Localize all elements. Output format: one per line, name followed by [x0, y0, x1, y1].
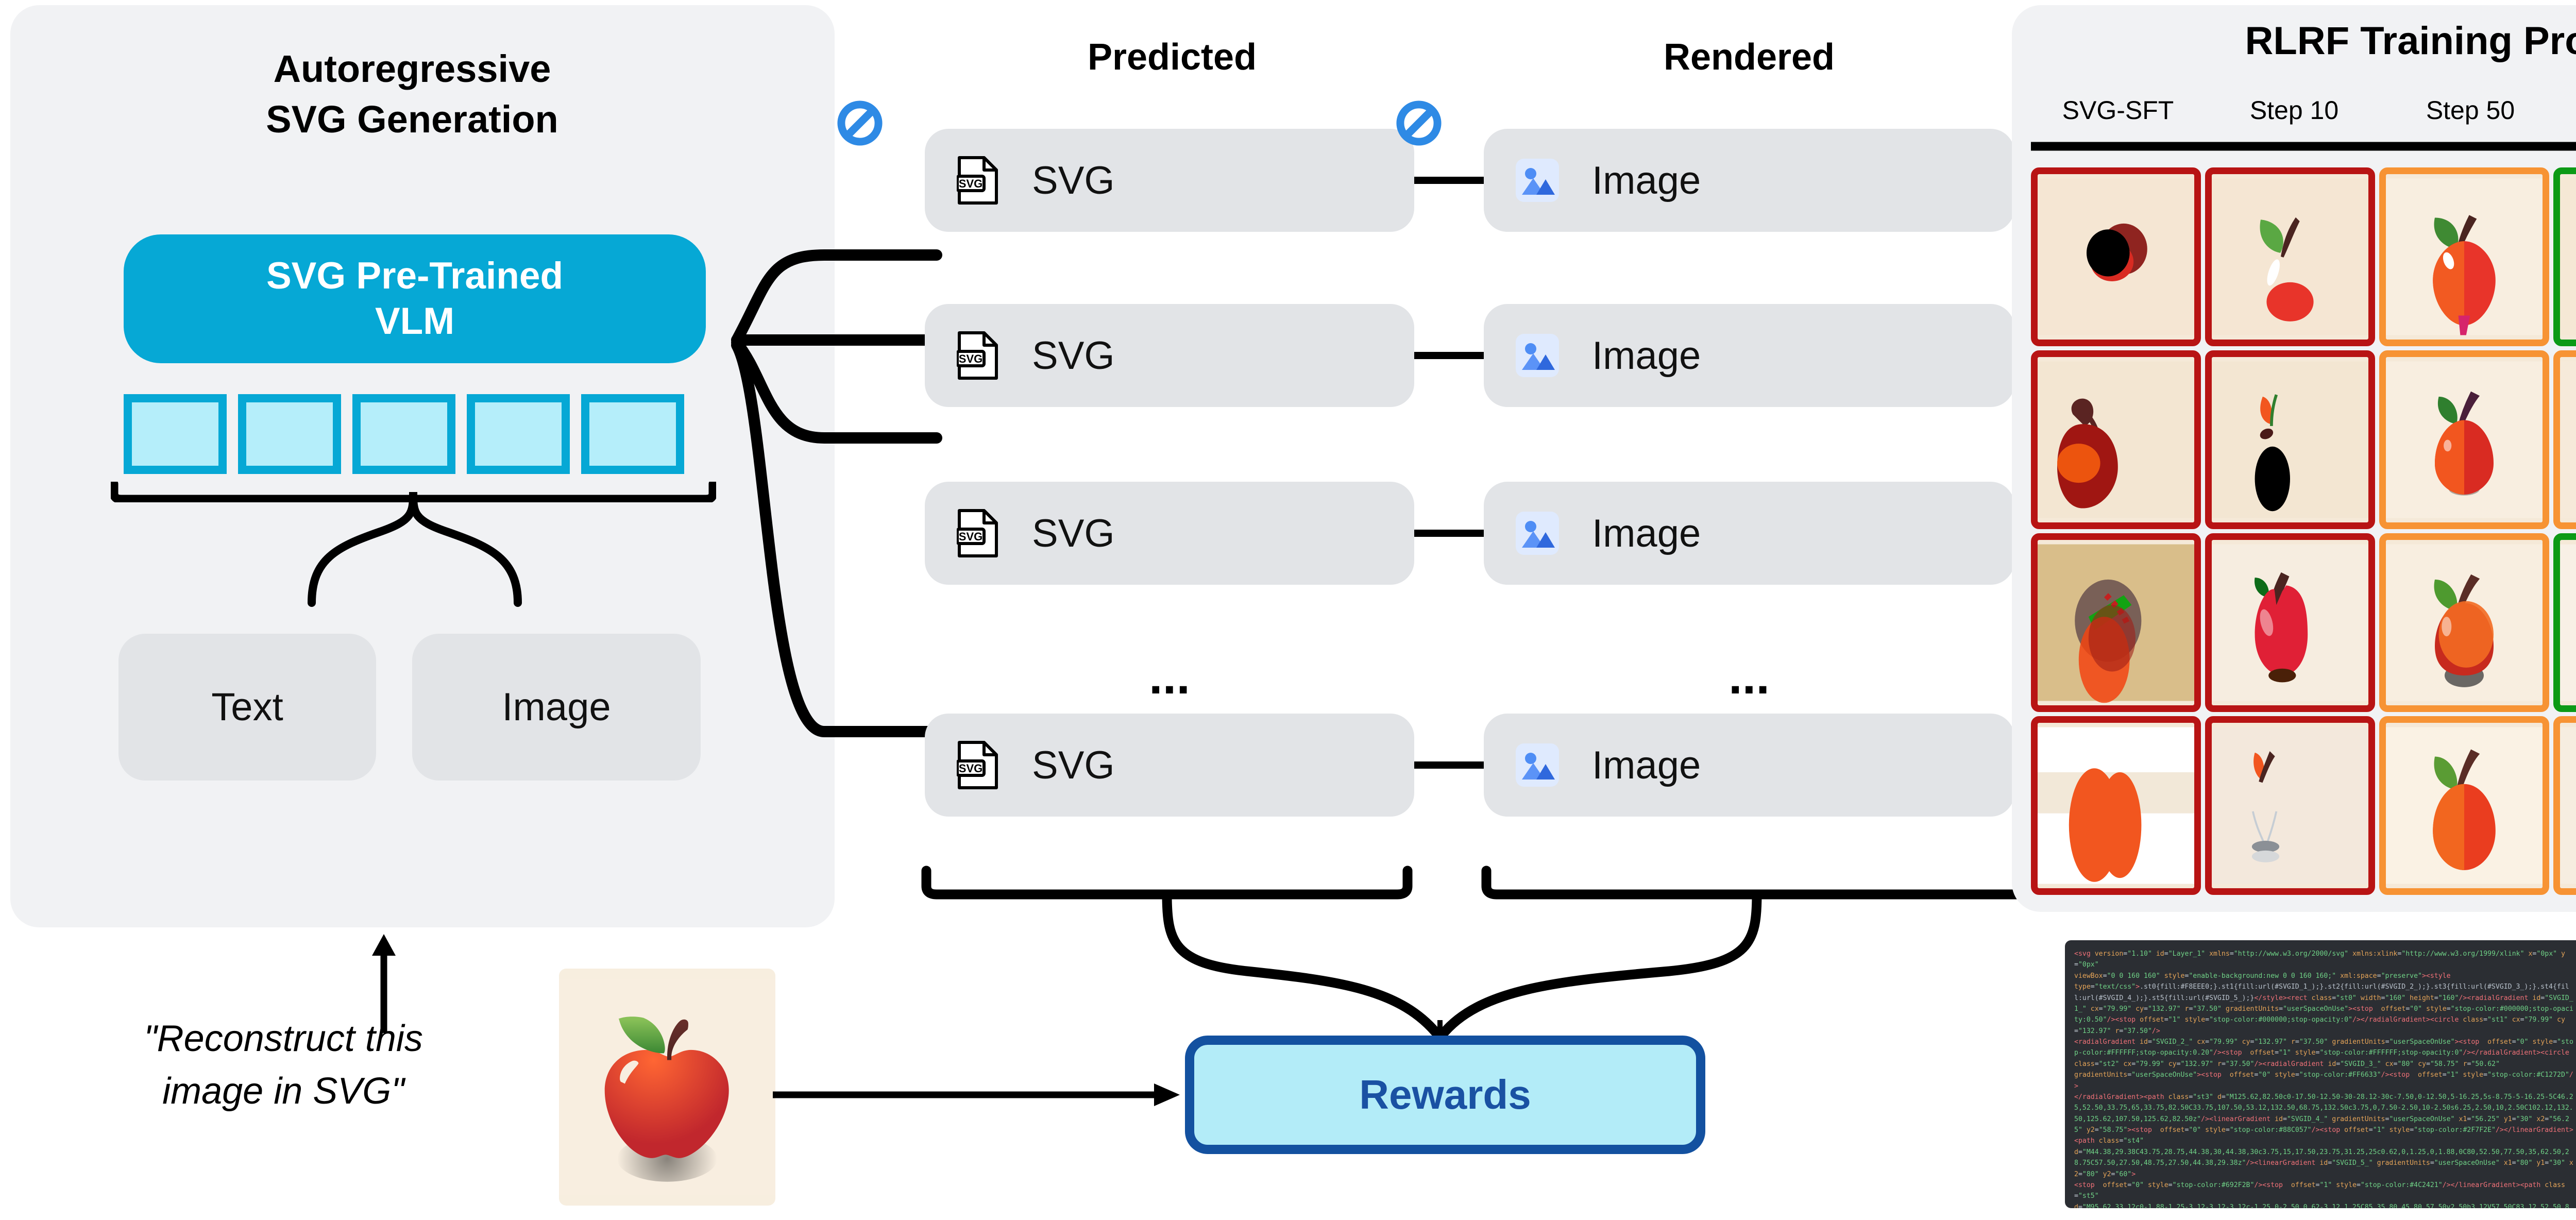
token-square	[238, 394, 341, 474]
rendered-image-card[interactable]: Image	[1484, 482, 2014, 585]
right-arrow-icon	[2031, 135, 2576, 159]
picture-icon	[1516, 334, 1559, 377]
grid-cell	[2031, 533, 2201, 712]
predicted-svg-card[interactable]: SVG SVG	[925, 129, 1414, 232]
predicted-svg-card[interactable]: SVG SVG	[925, 482, 1414, 585]
svg-file-icon: SVG	[957, 509, 999, 558]
svg-text:SVG: SVG	[959, 177, 982, 190]
token-square	[352, 394, 455, 474]
rendered-image-label: Image	[1592, 511, 1701, 556]
svg-text:SVG: SVG	[959, 762, 982, 775]
row-connector	[1414, 177, 1486, 184]
rewards-label: Rewards	[1359, 1071, 1531, 1119]
input-image-box[interactable]: Image	[412, 634, 701, 781]
svg-code-output: <svg version="1.10" id="Layer_1" xmlns="…	[2065, 940, 2576, 1208]
vlm-label-line1: SVG Pre-Trained	[266, 253, 563, 299]
prompt-to-rewards-arrow-icon	[773, 1079, 1180, 1110]
page-title: Autoregressive SVG Generation	[0, 44, 824, 144]
prompt-line2: image in SVG"	[5, 1065, 562, 1117]
rendered-image-card[interactable]: Image	[1484, 714, 2014, 817]
grid-cell	[2553, 716, 2576, 895]
grid-cell	[2379, 350, 2549, 529]
rendered-ellipsis: ...	[1484, 665, 2014, 689]
vlm-label-line2: VLM	[375, 299, 454, 344]
input-fork-connector	[111, 492, 716, 636]
grid-cell	[2553, 167, 2576, 346]
picture-icon	[1516, 512, 1559, 555]
predicted-svg-card[interactable]: SVG SVG	[925, 304, 1414, 407]
predicted-svg-label: SVG	[1032, 333, 1115, 378]
svg-file-icon: SVG	[957, 331, 999, 380]
grid-cell	[2379, 533, 2549, 712]
svg-pretrained-vlm-block[interactable]: SVG Pre-Trained VLM	[124, 234, 706, 363]
token-square	[124, 394, 227, 474]
rendered-image-card[interactable]: Image	[1484, 129, 2014, 232]
rendered-image-label: Image	[1592, 158, 1701, 203]
step-header: SVG-SFT	[2030, 95, 2206, 125]
predicted-svg-label: SVG	[1032, 158, 1115, 203]
grid-cell	[2031, 350, 2201, 529]
grid-cell	[2205, 533, 2375, 712]
picture-icon	[1516, 159, 1559, 202]
rewards-block[interactable]: Rewards	[1185, 1036, 1705, 1154]
step-header: Step 10	[2206, 95, 2382, 125]
grid-cell	[2031, 716, 2201, 895]
grid-cell	[2205, 350, 2375, 529]
rendered-image-card[interactable]: Image	[1484, 304, 2014, 407]
input-image-label: Image	[502, 685, 611, 730]
prompt-line1: "Reconstruct this	[5, 1012, 562, 1065]
grid-cell	[2379, 167, 2549, 346]
vlm-fanout-connector	[706, 113, 943, 804]
column-header-rendered: Rendered	[1484, 36, 2014, 78]
predicted-svg-label: SVG	[1032, 511, 1115, 556]
svg-text:SVG: SVG	[959, 352, 982, 365]
grid-cell	[2553, 533, 2576, 712]
row-connector	[1414, 761, 1486, 769]
input-text-box[interactable]: Text	[118, 634, 376, 781]
rlrf-title: RLRF Training Progress	[2012, 19, 2576, 63]
predicted-svg-card[interactable]: SVG SVG	[925, 714, 1414, 817]
grid-cell	[2379, 716, 2549, 895]
prohibition-icon	[1396, 100, 1442, 146]
token-square	[581, 394, 684, 474]
predicted-ellipsis: ...	[925, 665, 1414, 689]
token-square	[467, 394, 570, 474]
step-header: Step 50	[2382, 95, 2558, 125]
training-progress-grid	[2031, 167, 2576, 895]
token-sequence	[124, 394, 706, 474]
row-connector	[1414, 352, 1486, 359]
rendered-image-label: Image	[1592, 333, 1701, 378]
step-column-headers: SVG-SFT Step 10 Step 50 Step 200 Step 40…	[2030, 95, 2576, 125]
svg-file-icon: SVG	[957, 156, 999, 205]
step-header: Step 200	[2558, 95, 2576, 125]
row-connector	[1414, 530, 1486, 537]
predicted-svg-label: SVG	[1032, 743, 1115, 788]
svg-file-icon: SVG	[957, 740, 999, 790]
prompt-quote: "Reconstruct this image in SVG"	[5, 1012, 562, 1117]
column-header-predicted: Predicted	[927, 36, 1417, 78]
grid-cell	[2553, 350, 2576, 529]
panel-title-line2: SVG Generation	[0, 94, 824, 145]
input-text-label: Text	[211, 685, 283, 730]
input-apple-thumbnail	[559, 969, 775, 1206]
grid-cell	[2205, 167, 2375, 346]
picture-icon	[1516, 743, 1559, 787]
grid-cell	[2205, 716, 2375, 895]
panel-title-line1: Autoregressive	[0, 44, 824, 94]
prohibition-icon	[837, 100, 883, 146]
grid-cell	[2031, 167, 2201, 346]
rendered-image-label: Image	[1592, 743, 1701, 788]
svg-text:SVG: SVG	[959, 530, 982, 543]
